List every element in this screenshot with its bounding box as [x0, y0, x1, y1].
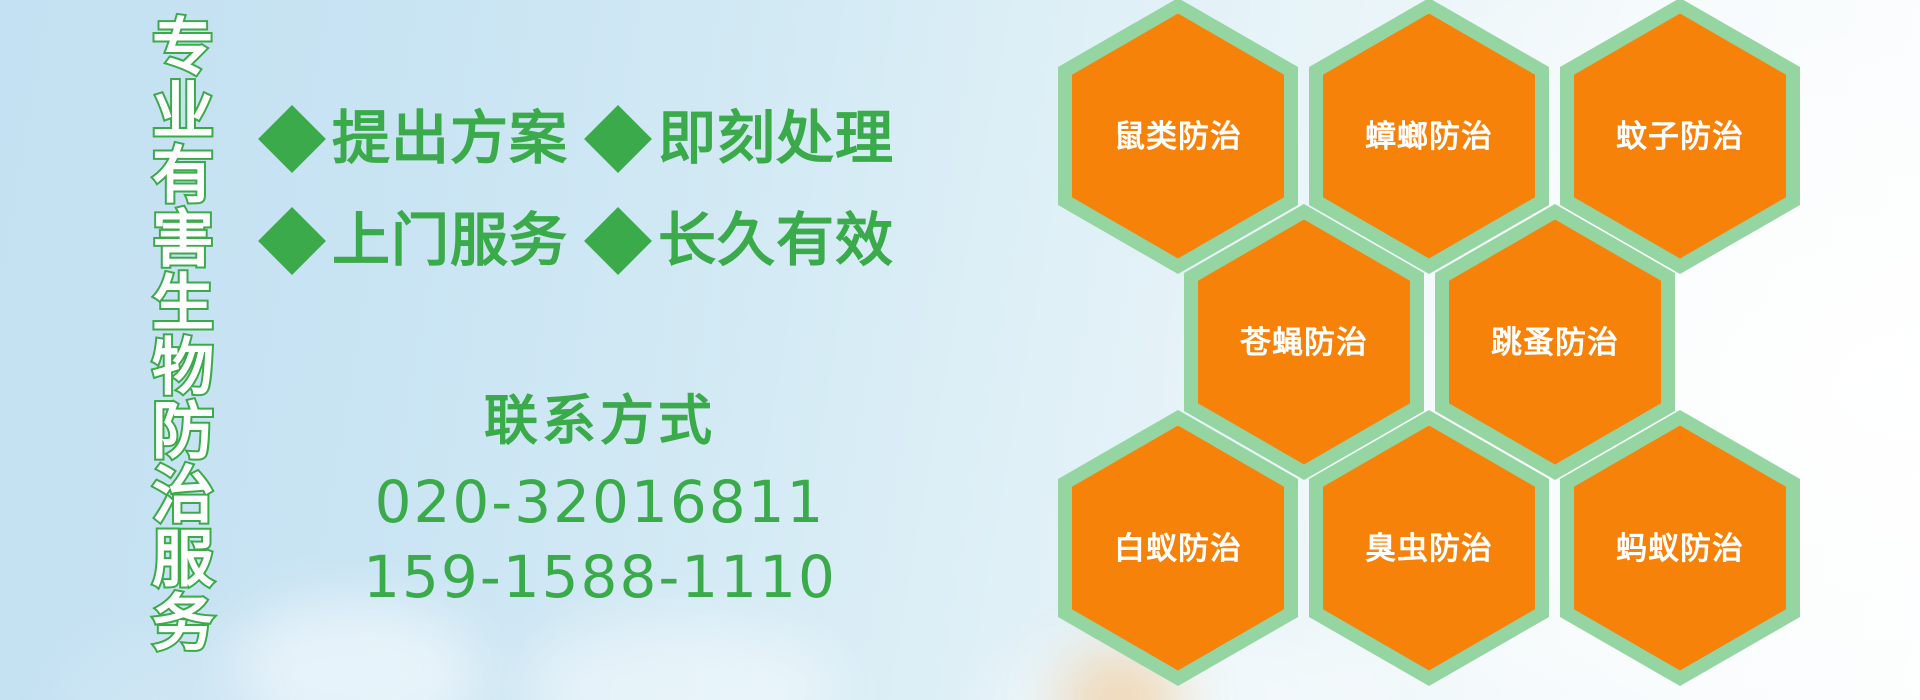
feature-row: 提出方案 即刻处理 — [268, 88, 908, 190]
hexagon-label: 白蚁防治 — [1114, 533, 1242, 564]
feature-label: 长久有效 — [658, 212, 894, 270]
hexagon-label: 臭虫防治 — [1365, 533, 1493, 564]
service-hexagon-grid: 鼠类防治 蟑螂防治 蚊子防治 苍蝇防治 跳蚤防治 白蚁防治 — [1058, 0, 1798, 692]
contact-heading: 联系方式 — [280, 392, 920, 451]
feature-item-long-lasting: 长久有效 — [594, 212, 894, 270]
feature-list: 提出方案 即刻处理 上门服务 长久有效 — [268, 88, 908, 292]
hexagon-inner: 跳蚤防治 — [1449, 220, 1661, 465]
feature-row: 上门服务 长久有效 — [268, 190, 908, 292]
hexagon-inner: 鼠类防治 — [1072, 14, 1284, 259]
diamond-icon — [584, 105, 652, 173]
contact-block: 联系方式 020-32016811 159-1588-1110 — [280, 392, 920, 614]
hexagon-inner: 白蚁防治 — [1072, 426, 1284, 671]
diamond-icon — [258, 207, 326, 275]
hexagon-label: 鼠类防治 — [1114, 121, 1242, 152]
background-blur-blob — [520, 620, 840, 700]
pest-control-banner: 专业有害生物防治服务 提出方案 即刻处理 上门服务 长久有效 联系方式 — [0, 0, 1920, 700]
hexagon-label: 蚊子防治 — [1616, 121, 1744, 152]
feature-item-onsite-service: 上门服务 — [268, 212, 568, 270]
contact-phone-mobile[interactable]: 159-1588-1110 — [280, 540, 920, 614]
vertical-headline: 专业有害生物防治服务 — [112, 14, 208, 574]
hexagon-label: 苍蝇防治 — [1240, 327, 1368, 358]
feature-label: 上门服务 — [332, 212, 568, 270]
feature-item-propose-plan: 提出方案 — [268, 110, 568, 168]
hexagon-label: 跳蚤防治 — [1491, 327, 1619, 358]
feature-label: 即刻处理 — [658, 110, 894, 168]
diamond-icon — [584, 207, 652, 275]
feature-item-immediate-handling: 即刻处理 — [594, 110, 894, 168]
hexagon-label: 蟑螂防治 — [1365, 121, 1493, 152]
hexagon-label: 蚂蚁防治 — [1616, 533, 1744, 564]
background-blur-blob — [220, 600, 480, 700]
hexagon-inner: 蟑螂防治 — [1323, 14, 1535, 259]
diamond-icon — [258, 105, 326, 173]
contact-phone-landline[interactable]: 020-32016811 — [280, 465, 920, 539]
hexagon-inner: 蚊子防治 — [1574, 14, 1786, 259]
hexagon-inner: 苍蝇防治 — [1198, 220, 1410, 465]
hexagon-inner: 臭虫防治 — [1323, 426, 1535, 671]
feature-label: 提出方案 — [332, 110, 568, 168]
hexagon-inner: 蚂蚁防治 — [1574, 426, 1786, 671]
